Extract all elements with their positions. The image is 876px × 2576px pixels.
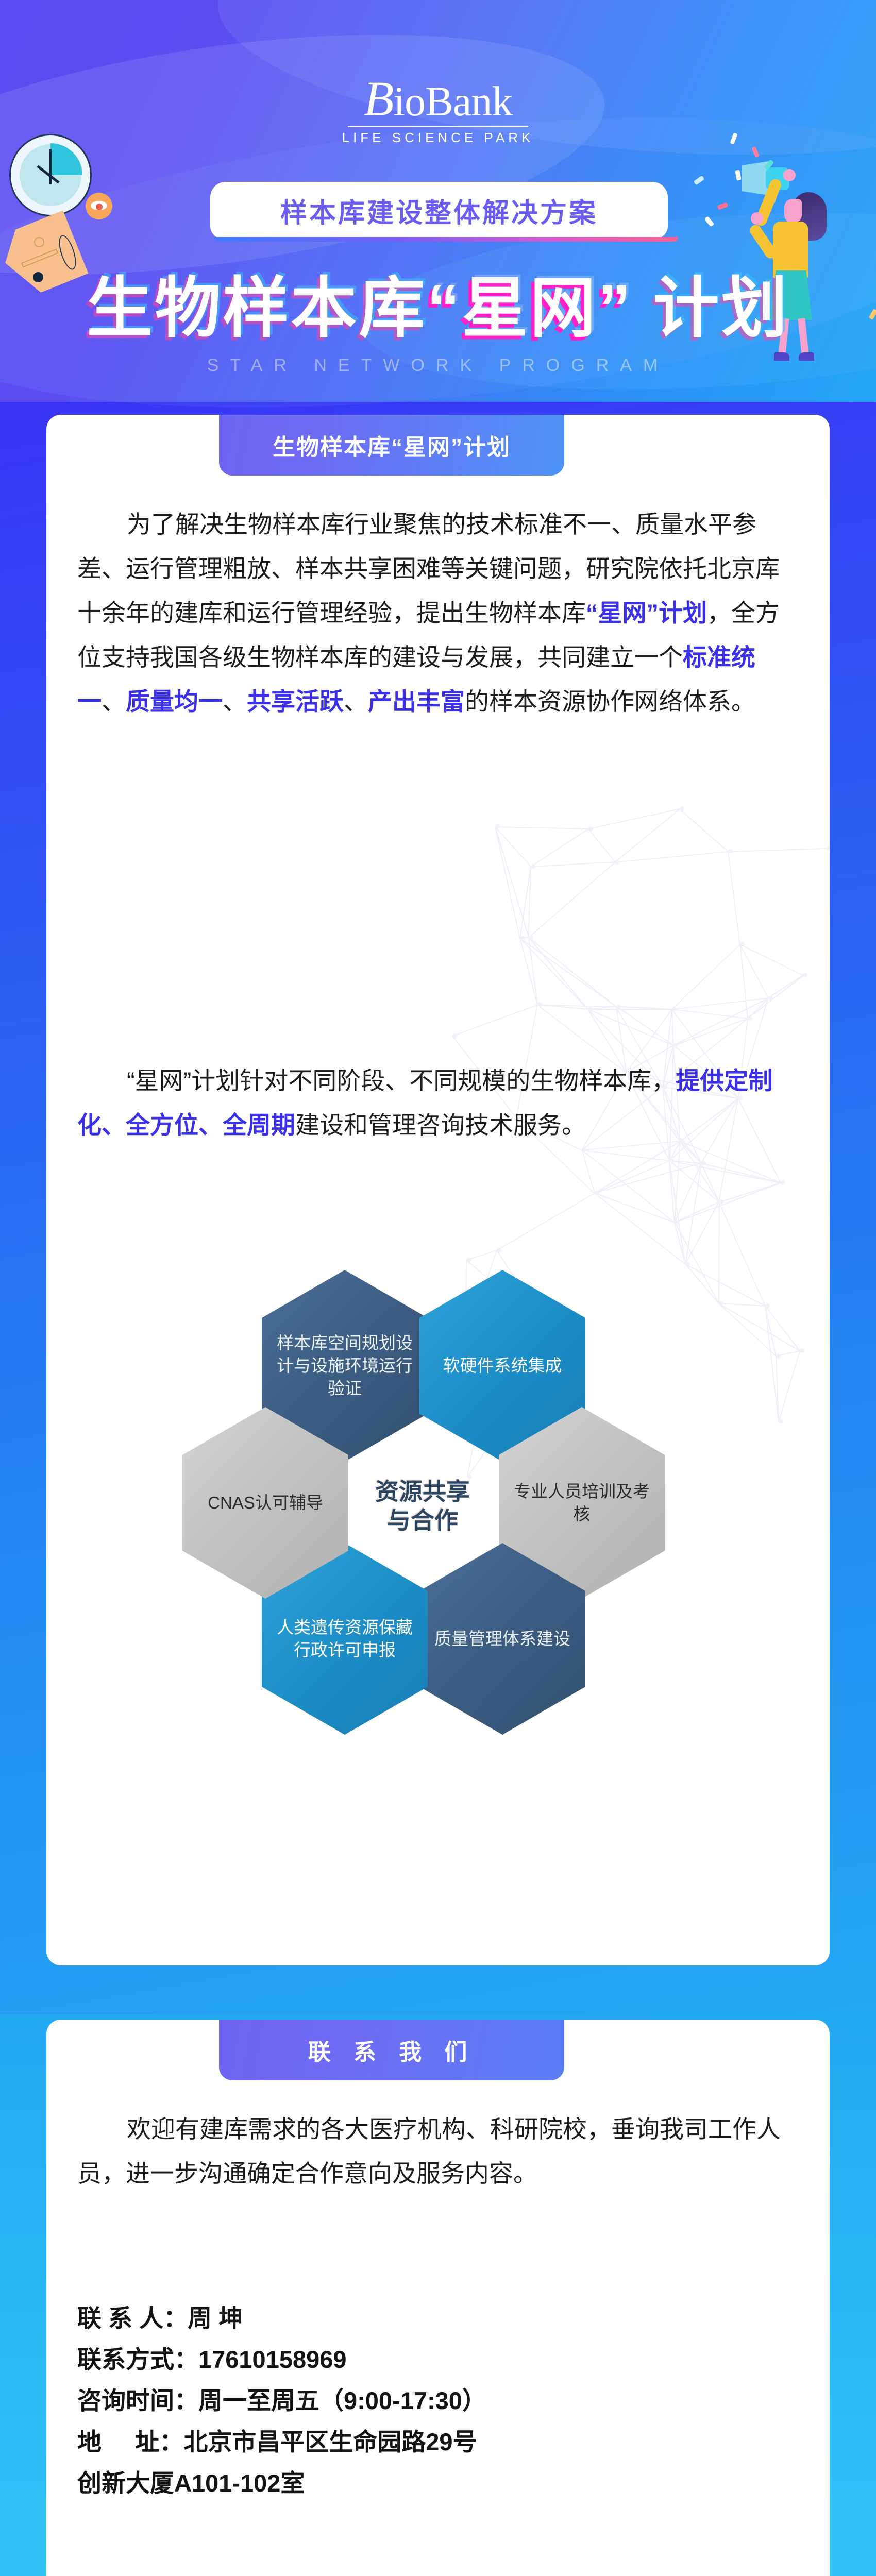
person-hand-holding <box>751 212 763 225</box>
solution-badge-underline <box>215 237 678 242</box>
page-title-part1: 生物样本库 <box>87 272 427 345</box>
solution-badge-label: 样本库建设整体解决方案 <box>280 191 598 230</box>
hex-center-line2: 与合作 <box>345 1506 500 1535</box>
contact-value-person: 周 坤 <box>188 2304 243 2332</box>
section-tab-main-label: 生物样本库“星网”计划 <box>273 429 511 462</box>
section-tab-contact-label: 联 系 我 们 <box>308 2033 476 2066</box>
hex-staff-training-label: 专业人员培训及考核 <box>499 1480 665 1526</box>
logo-wordmark-rest: ioBank <box>393 78 512 125</box>
para1-hl4: 共享活跃 <box>247 688 344 715</box>
contact-row-address: 地 址：北京市昌平区生命园路29号 <box>77 2421 799 2463</box>
para2-seg2: 建设和管理咨询技术服务。 <box>295 1111 586 1139</box>
brand-logo: BioBank LIFE SCIENCE PARK <box>0 77 876 146</box>
logo-divider <box>348 126 528 127</box>
para1-hl1: “星网”计划 <box>586 599 707 626</box>
contact-row-person: 联 系 人：周 坤 <box>77 2298 799 2339</box>
hex-quality-management-label: 质量管理体系建设 <box>420 1628 585 1650</box>
service-paragraph: “星网”计划针对不同阶段、不同规模的生物样本库，提供定制化、全方位、全周期建设和… <box>77 1059 799 1147</box>
contact-value-address: 北京市昌平区生命园路29号 <box>183 2428 477 2455</box>
page-title-quote-open: “ <box>427 272 462 345</box>
page-subtitle-en: STAR NETWORK PROGRAM <box>0 355 876 376</box>
page-title: 生物样本库“星网” 计划 <box>0 270 876 347</box>
hex-center-label: 资源共享 与合作 <box>345 1477 500 1535</box>
hex-genetic-resource-permit-label: 人类遗传资源保藏行政许可申报 <box>262 1616 428 1662</box>
logo-subtitle: LIFE SCIENCE PARK <box>0 130 876 146</box>
contact-label-phone: 联系方式： <box>77 2346 198 2373</box>
contact-label-person: 联 系 人： <box>77 2304 188 2332</box>
solution-badge: 样本库建设整体解决方案 <box>210 182 668 239</box>
para1-hl3: 质量均一 <box>126 688 223 715</box>
hex-system-integration-label: 软硬件系统集成 <box>429 1354 577 1377</box>
poster-page: BioBank LIFE SCIENCE PARK 样本库建设整体解决方案 生物… <box>0 0 876 2576</box>
person-face <box>784 199 802 223</box>
hex-cnas-accreditation-label: CNAS认可辅导 <box>193 1492 338 1514</box>
page-title-quote-close: ” <box>598 272 633 345</box>
para1-seg5: 、 <box>344 688 368 715</box>
para1-seg6: 的样本资源协作网络体系。 <box>465 688 755 715</box>
page-title-part2: 计划 <box>633 272 789 345</box>
contact-value-phone: 17610158969 <box>198 2346 347 2373</box>
hex-center-line1: 资源共享 <box>345 1477 500 1506</box>
page-title-star: 星网 <box>462 272 598 345</box>
tag-hole <box>34 237 44 247</box>
clock-hand-minute <box>49 149 52 184</box>
contact-row-hours: 咨询时间：周一至周五（9:00-17:30） <box>77 2380 799 2421</box>
hex-space-planning-label: 样本库空间规划设计与设施环境运行验证 <box>262 1332 428 1400</box>
contact-details: 联 系 人：周 坤 联系方式：17610158969 咨询时间：周一至周五（9:… <box>77 2298 799 2504</box>
contact-row-phone: 联系方式：17610158969 <box>77 2339 799 2380</box>
para2-seg1: “星网”计划针对不同阶段、不同规模的生物样本库， <box>127 1067 676 1094</box>
person-hand-raised <box>783 169 796 181</box>
contact-paragraph: 欢迎有建库需求的各大医疗机构、科研院校，垂询我司工作人员，进一步沟通确定合作意向… <box>77 2107 799 2196</box>
para1-hl5: 产出丰富 <box>368 688 465 715</box>
logo-initial: B <box>364 71 394 126</box>
eye-pupil <box>96 204 103 210</box>
hexagon-diagram: 样本库空间规划设计与设施环境运行验证 软硬件系统集成 专业人员培训及考核 质量管… <box>77 1265 799 1883</box>
para1-seg3: 、 <box>102 688 126 715</box>
intro-paragraph: 为了解决生物样本库行业聚焦的技术标准不一、质量水平参差、运行管理粗放、样本共享困… <box>77 502 799 724</box>
contact-label-address: 地 址： <box>77 2428 183 2455</box>
section-tab-main: 生物样本库“星网”计划 <box>219 415 564 476</box>
para1-seg4: 、 <box>223 688 247 715</box>
contact-value-hours: 周一至周五（9:00-17:30） <box>198 2387 486 2414</box>
contact-label-hours: 咨询时间： <box>77 2387 198 2414</box>
section-tab-contact: 联 系 我 们 <box>219 2020 564 2080</box>
contact-address-line2: 创新大厦A101-102室 <box>77 2463 799 2504</box>
logo-wordmark: BioBank <box>0 77 876 123</box>
